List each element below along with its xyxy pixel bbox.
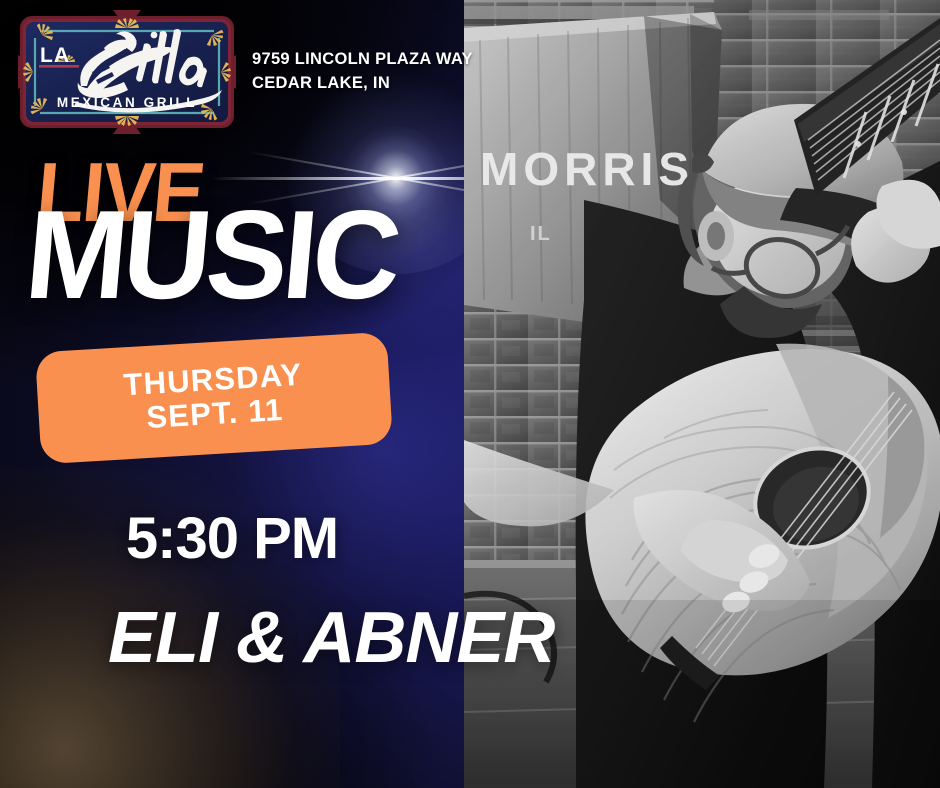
la-dilla-logo[interactable]: LA [18, 10, 236, 134]
date-badge: THURSDAY SEPT. 11 [35, 332, 393, 465]
address-line-2: CEDAR LAKE, IN [252, 72, 482, 96]
live-music-event-poster: MORRIS IL [0, 0, 940, 788]
svg-text:LA: LA [40, 44, 70, 67]
event-time: 5:30 PM [0, 505, 464, 572]
artist-name: ELI & ABNER [108, 602, 554, 674]
svg-text:MEXICAN GRILL: MEXICAN GRILL [57, 95, 197, 110]
address-line-1: 9759 LINCOLN PLAZA WAY [252, 48, 482, 72]
headline-music: MUSIC [22, 203, 401, 306]
badge-date: SEPT. 11 [145, 393, 284, 436]
venue-address: 9759 LINCOLN PLAZA WAY CEDAR LAKE, IN [252, 48, 482, 96]
